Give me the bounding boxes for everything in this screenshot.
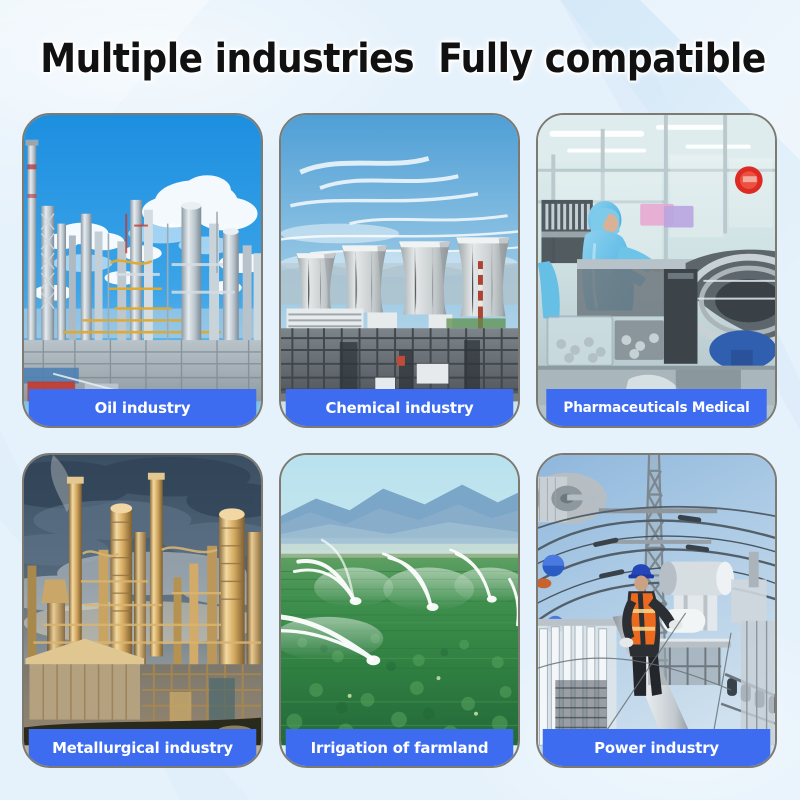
power-industry-photo (538, 455, 775, 766)
chemical-industry-photo (281, 115, 518, 426)
pharmaceuticals-medical-photo (538, 115, 775, 426)
industry-card-power-industry[interactable]: Power industry (536, 453, 777, 768)
industry-card-pharmaceuticals-medical[interactable]: Pharmaceuticals Medical (536, 113, 777, 428)
card-caption-metallurgical-industry: Metallurgical industry (29, 729, 257, 766)
card-caption-oil-industry: Oil industry (29, 389, 257, 426)
industry-card-grid: Oil industry (22, 113, 778, 768)
card-caption-power-industry: Power industry (543, 729, 771, 766)
metallurgical-industry-photo (24, 455, 261, 766)
industry-card-oil-industry[interactable]: Oil industry (22, 113, 263, 428)
card-caption-pharmaceuticals-medical: Pharmaceuticals Medical (546, 389, 766, 426)
irrigation-of-farmland-photo (281, 455, 518, 766)
page-title: Multiple industries Fully compatible (40, 36, 766, 82)
industry-card-irrigation-of-farmland[interactable]: Irrigation of farmland (279, 453, 520, 768)
card-caption-chemical-industry: Chemical industry (286, 389, 514, 426)
industry-card-chemical-industry[interactable]: Chemical industry (279, 113, 520, 428)
oil-industry-photo (24, 115, 261, 426)
poster-page: Multiple industries Fully compatible (0, 0, 800, 800)
page-title-container: Multiple industries Fully compatible (0, 36, 800, 82)
card-caption-irrigation-of-farmland: Irrigation of farmland (286, 729, 514, 766)
industry-card-metallurgical-industry[interactable]: Metallurgical industry (22, 453, 263, 768)
